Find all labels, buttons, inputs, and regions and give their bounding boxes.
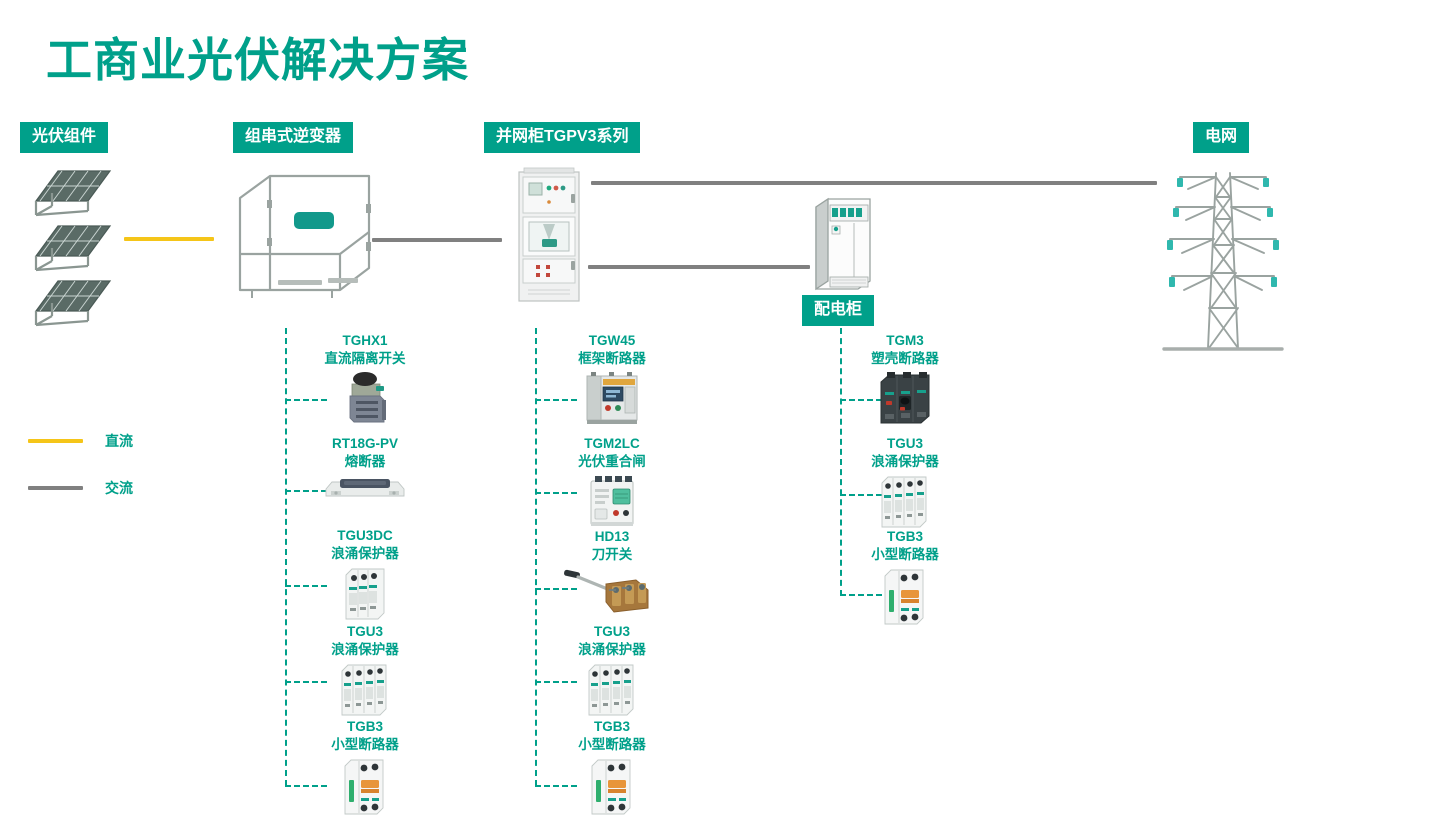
- stage-badge-grid-cabinet[interactable]: 并网柜TGPV3系列: [484, 122, 640, 153]
- legend-item-ac: 交流: [28, 478, 133, 498]
- product-name: 塑壳断路器: [810, 350, 1000, 368]
- product-code: TGB3: [517, 718, 707, 736]
- surge-protector-4p-icon: [874, 473, 936, 531]
- product-card[interactable]: TGU3 浪涌保护器: [270, 623, 460, 719]
- pv-recloser-icon: [583, 473, 641, 529]
- product-card[interactable]: TGU3 浪涌保护器: [810, 435, 1000, 531]
- surge-protector-4p-icon: [581, 661, 643, 719]
- air-circuit-breaker-icon: [579, 370, 645, 426]
- miniature-circuit-breaker-icon: [335, 756, 395, 818]
- product-name: 小型断路器: [517, 736, 707, 754]
- product-code: HD13: [517, 528, 707, 546]
- product-name: 刀开关: [517, 546, 707, 564]
- product-name: 熔断器: [270, 453, 460, 471]
- ac-flow-line-grid-cabinet-to-tower: [591, 181, 1157, 185]
- product-code: TGU3: [517, 623, 707, 641]
- product-name: 框架断路器: [517, 350, 707, 368]
- ac-flow-line-grid-cabinet-to-distribution: [588, 265, 810, 269]
- product-card[interactable]: TGB3 小型断路器: [270, 718, 460, 818]
- product-card[interactable]: RT18G-PV 熔断器: [270, 435, 460, 503]
- product-name: 浪涌保护器: [810, 453, 1000, 471]
- product-name: 直流隔离开关: [270, 350, 460, 368]
- product-code: TGW45: [517, 332, 707, 350]
- product-card[interactable]: TGU3 浪涌保护器: [517, 623, 707, 719]
- product-card[interactable]: TGB3 小型断路器: [810, 528, 1000, 628]
- product-code: TGM3: [810, 332, 1000, 350]
- product-card[interactable]: TGU3DC 浪涌保护器: [270, 527, 460, 623]
- solution-diagram: 工商业光伏解决方案 光伏组件 组串式逆变器 并网柜TGPV3系列 配电柜 电网 …: [0, 0, 1436, 829]
- surge-protector-3p-icon: [336, 565, 394, 623]
- product-name: 小型断路器: [270, 736, 460, 754]
- miniature-circuit-breaker-icon: [582, 756, 642, 818]
- dc-flow-line-panels-to-inverter: [124, 237, 214, 241]
- surge-protector-4p-icon: [334, 661, 396, 719]
- product-code: TGB3: [810, 528, 1000, 546]
- stage-badge-pv-modules[interactable]: 光伏组件: [20, 122, 108, 153]
- stage-badge-string-inverter[interactable]: 组串式逆变器: [233, 122, 353, 153]
- dc-isolator-switch-icon: [332, 370, 398, 428]
- transmission-tower-icon: [1158, 163, 1288, 358]
- product-code: RT18G-PV: [270, 435, 460, 453]
- product-card[interactable]: TGB3 小型断路器: [517, 718, 707, 818]
- product-card[interactable]: HD13 刀开关: [517, 528, 707, 616]
- page-title: 工商业光伏解决方案: [46, 24, 469, 90]
- product-name: 光伏重合闸: [517, 453, 707, 471]
- legend-label-ac: 交流: [105, 478, 133, 498]
- fuse-holder-icon: [322, 473, 408, 503]
- distribution-cabinet-icon: [806, 193, 876, 293]
- product-card[interactable]: TGHX1 直流隔离开关: [270, 332, 460, 428]
- moulded-case-circuit-breaker-icon: [873, 370, 937, 428]
- product-card[interactable]: TGM3 塑壳断路器: [810, 332, 1000, 428]
- product-code: TGU3: [270, 623, 460, 641]
- miniature-circuit-breaker-icon: [875, 566, 935, 628]
- legend-item-dc: 直流: [28, 431, 133, 451]
- legend-swatch-ac: [28, 486, 83, 490]
- product-name: 小型断路器: [810, 546, 1000, 564]
- product-code: TGU3DC: [270, 527, 460, 545]
- product-code: TGU3: [810, 435, 1000, 453]
- product-card[interactable]: TGW45 框架断路器: [517, 332, 707, 426]
- legend-swatch-dc: [28, 439, 83, 443]
- stage-badge-power-grid[interactable]: 电网: [1193, 122, 1249, 153]
- product-name: 浪涌保护器: [270, 545, 460, 563]
- product-code: TGHX1: [270, 332, 460, 350]
- pv-module-array-icon: [18, 163, 138, 333]
- product-card[interactable]: TGM2LC 光伏重合闸: [517, 435, 707, 529]
- grid-cabinet-icon: [518, 166, 580, 302]
- string-inverter-icon: [232, 168, 377, 303]
- stage-badge-distribution-cabinet[interactable]: 配电柜: [802, 295, 874, 326]
- product-code: TGM2LC: [517, 435, 707, 453]
- product-code: TGB3: [270, 718, 460, 736]
- product-name: 浪涌保护器: [270, 641, 460, 659]
- product-name: 浪涌保护器: [517, 641, 707, 659]
- ac-flow-line-inverter-to-grid-cabinet: [372, 238, 502, 242]
- knife-switch-icon: [562, 566, 662, 616]
- legend-label-dc: 直流: [105, 431, 133, 451]
